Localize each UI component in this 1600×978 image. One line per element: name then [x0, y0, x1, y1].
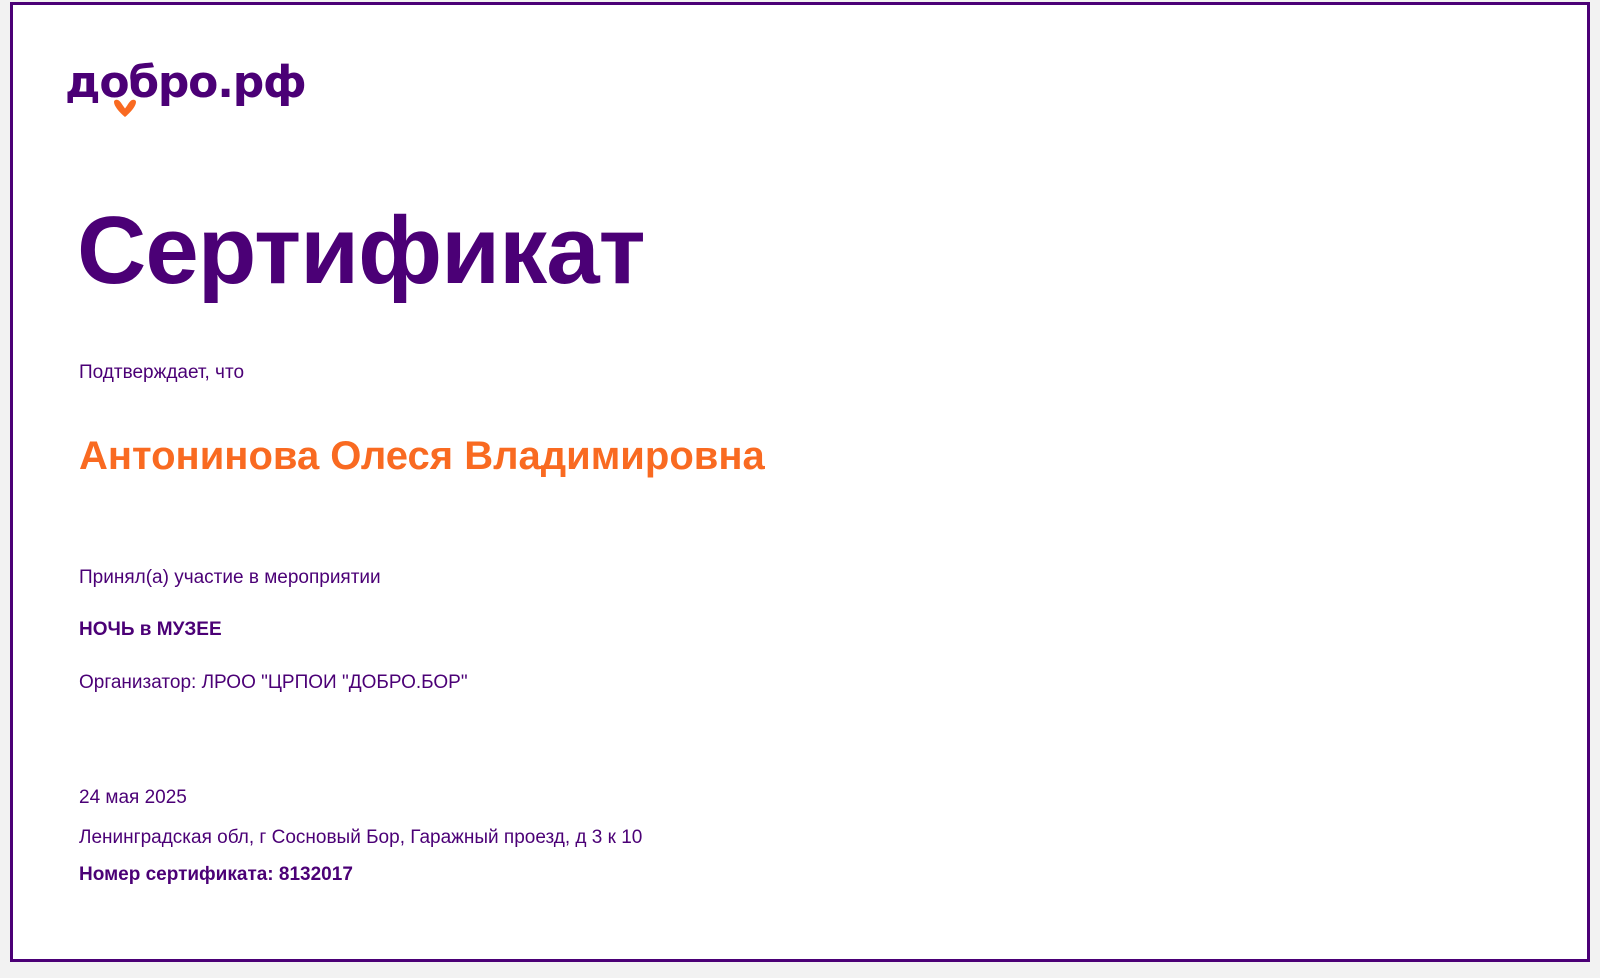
organizer-line: Организатор: ЛРОО "ЦРПОИ "ДОБРО.БОР": [79, 670, 468, 696]
issue-address: Ленинградская обл, г Сосновый Бор, Гараж…: [79, 825, 1079, 851]
recipient-name: Антонинова Олеся Владимировна: [79, 423, 839, 489]
event-name: НОЧЬ в МУЗЕЕ: [79, 617, 222, 643]
heart-icon: [112, 99, 138, 121]
certificate-footer: 24 мая 2025 Ленинградская обл, г Сосновы…: [79, 785, 1079, 888]
brand-logo: добро.рф: [65, 57, 325, 129]
issue-date: 24 мая 2025: [79, 785, 1079, 811]
brand-logo-text: добро.рф: [65, 57, 325, 109]
participation-label: Принял(а) участие в мероприятии: [79, 565, 381, 591]
certificate-page: добро.рф Сертификат Подтверждает, что Ан…: [0, 0, 1600, 978]
certificate-number: Номер сертификата: 8132017: [79, 862, 1079, 888]
confirm-label: Подтверждает, что: [79, 360, 244, 386]
page-title: Сертификат: [77, 197, 645, 305]
certificate-frame: добро.рф Сертификат Подтверждает, что Ан…: [10, 2, 1590, 962]
